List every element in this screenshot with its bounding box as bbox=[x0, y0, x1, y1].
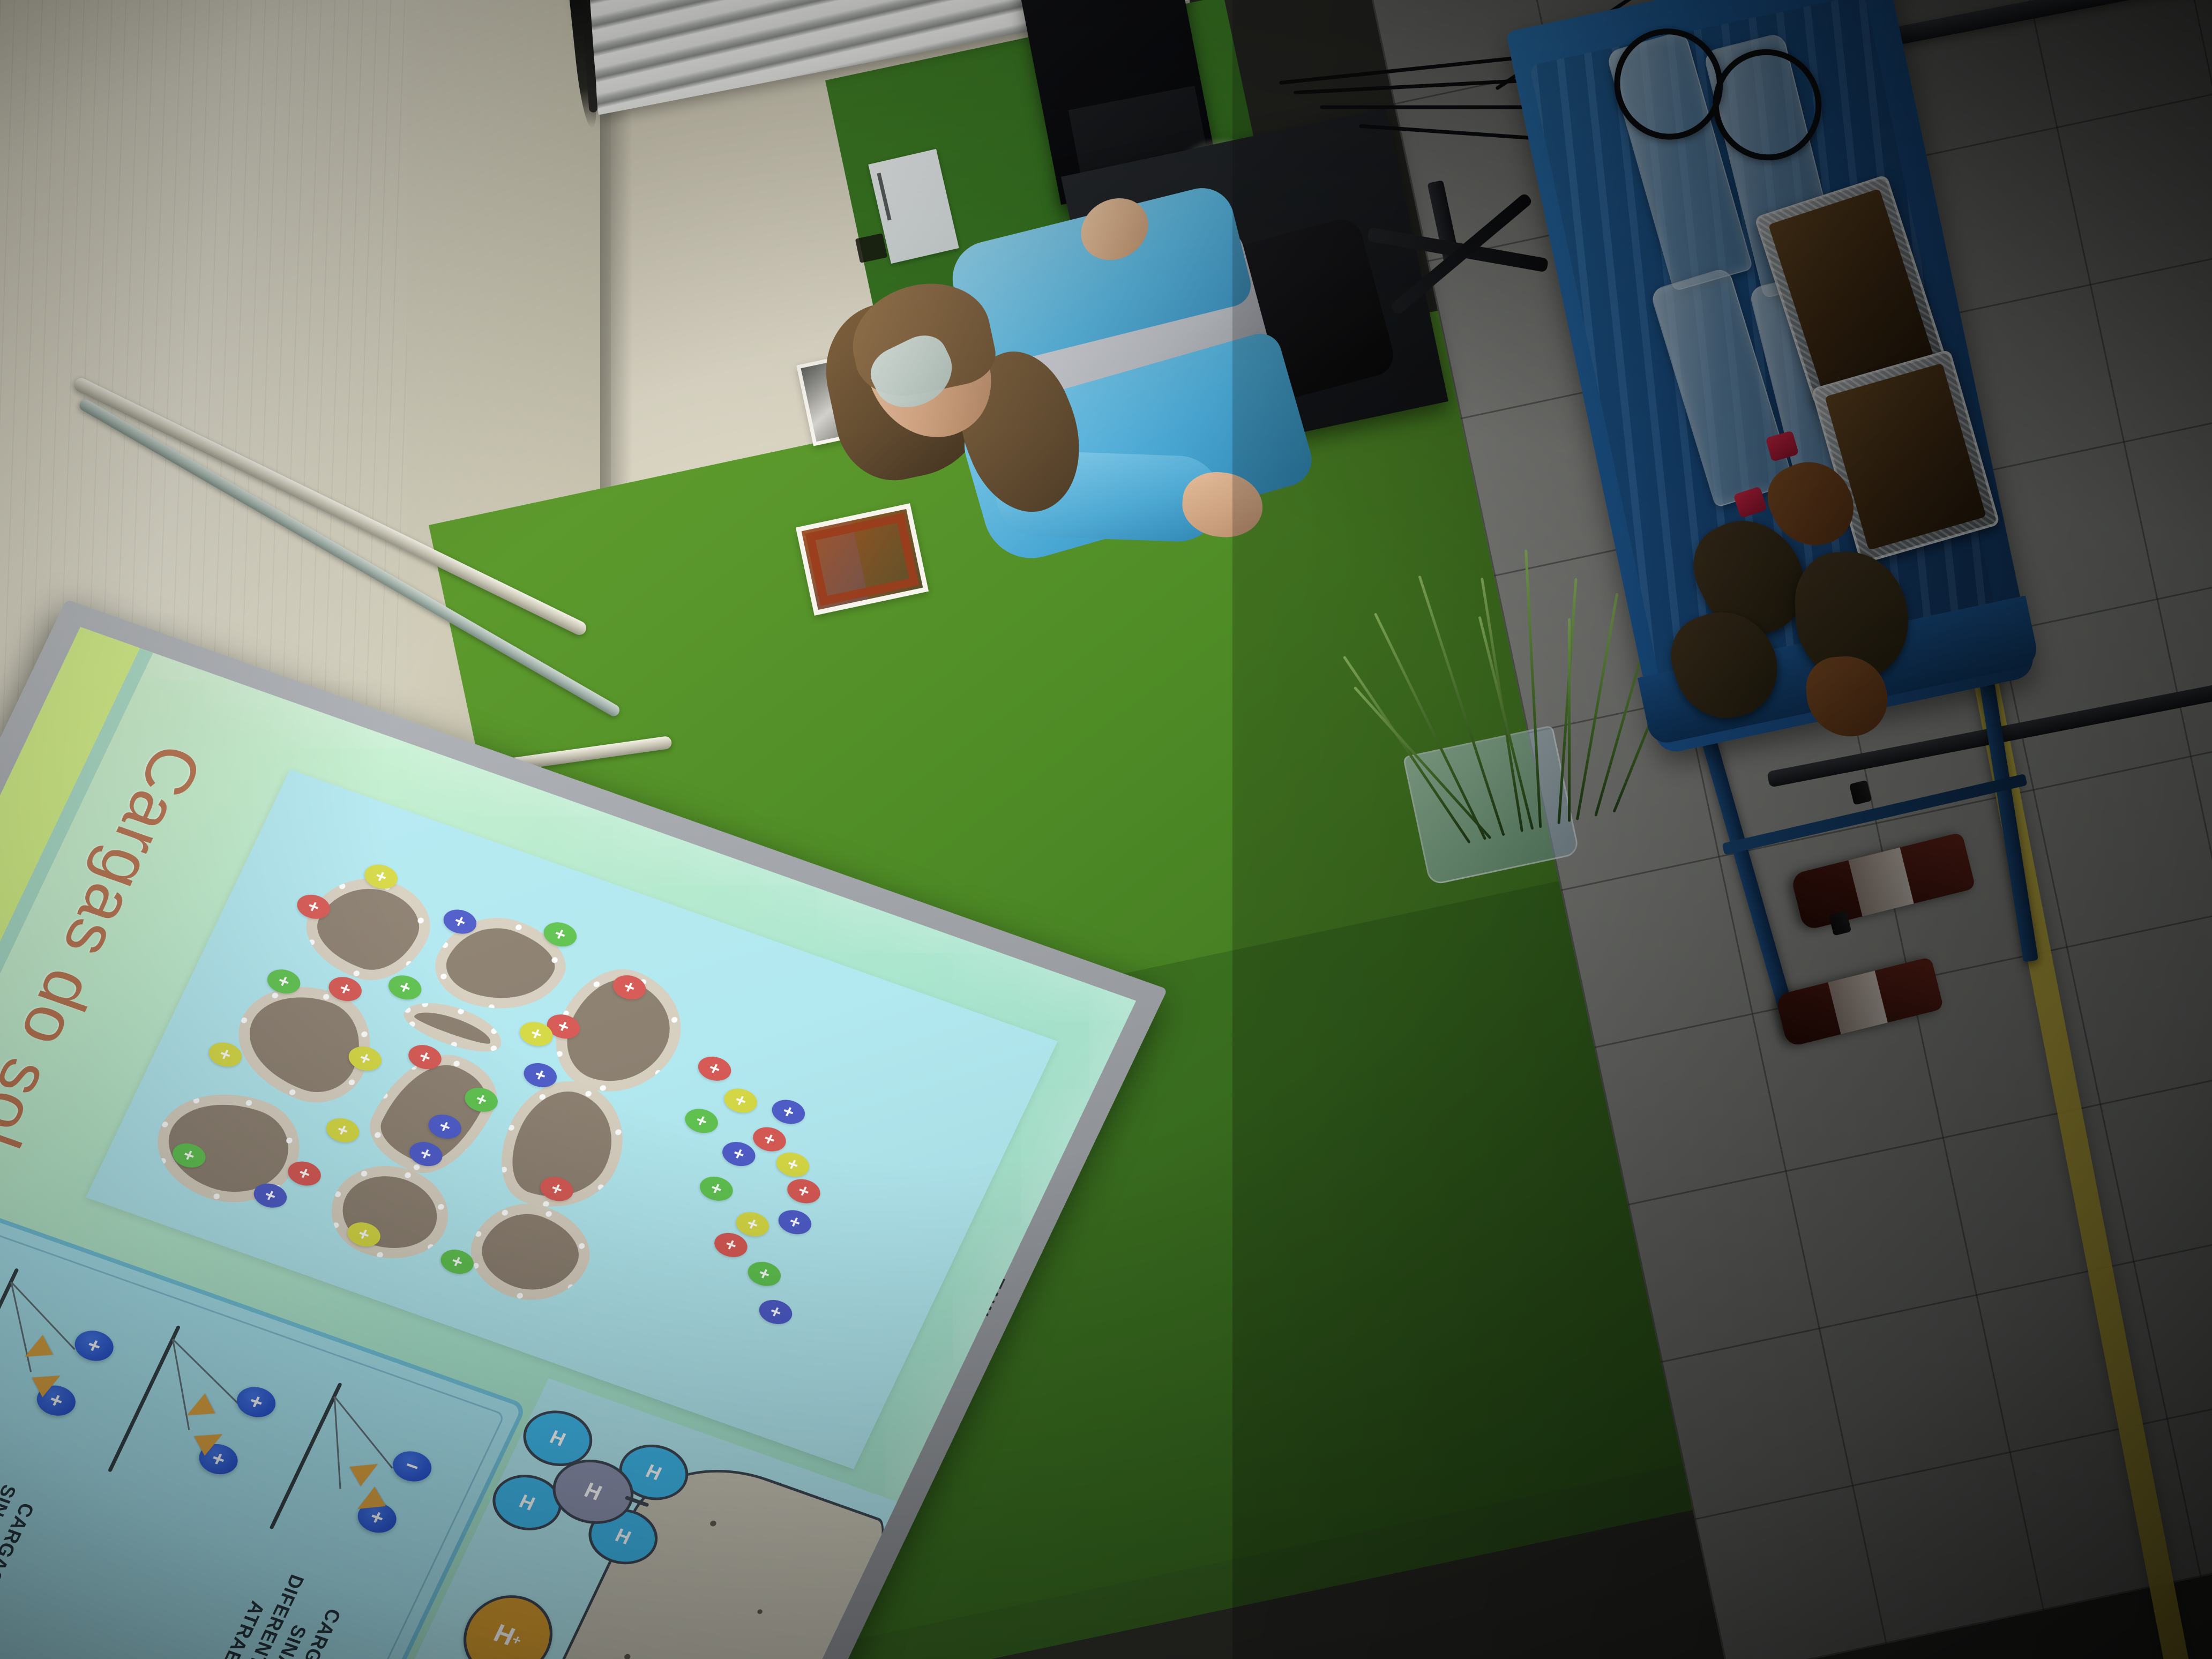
cation-plus: + bbox=[772, 1148, 813, 1181]
soil-particle bbox=[455, 1190, 606, 1316]
cation-plus: + bbox=[774, 1206, 816, 1239]
bottle-label bbox=[1828, 970, 1888, 1034]
cation-plus: + bbox=[783, 1175, 824, 1208]
cation-plus: + bbox=[322, 1114, 363, 1147]
cation-plus: + bbox=[384, 971, 425, 1004]
cation-plus: + bbox=[744, 1258, 785, 1290]
pendulum-wire bbox=[334, 1396, 341, 1489]
hydrogen-cation: H+ bbox=[449, 1583, 567, 1659]
cation-plus: + bbox=[749, 1123, 790, 1156]
cation-plus: + bbox=[720, 1085, 761, 1117]
presenter bbox=[774, 127, 1412, 773]
cation-plus: + bbox=[768, 1096, 809, 1129]
soil-particle bbox=[481, 1067, 646, 1225]
photo-scene: TAW Cargas do solo +++++++++++++++++++++… bbox=[0, 0, 2212, 1659]
cation-plus: + bbox=[696, 1172, 737, 1205]
cation-plus: + bbox=[681, 1104, 722, 1137]
cation-plus: + bbox=[694, 1052, 735, 1085]
cation-plus: + bbox=[755, 1296, 796, 1328]
soil-particle bbox=[217, 968, 392, 1115]
cation-plus: + bbox=[718, 1138, 759, 1170]
